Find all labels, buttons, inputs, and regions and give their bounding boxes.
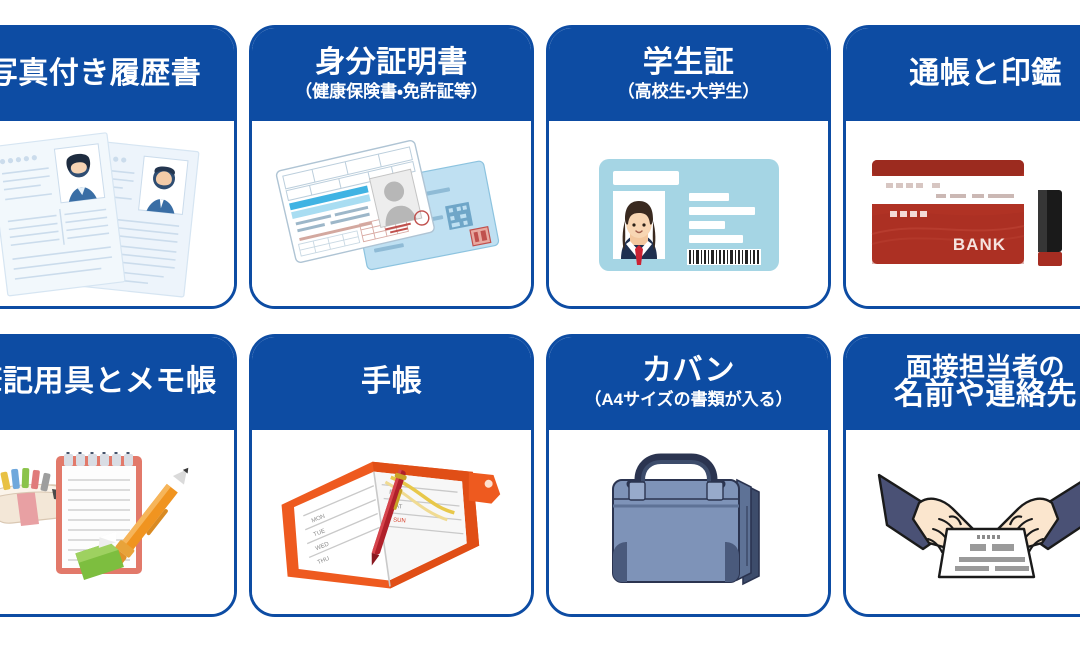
card-header-planner: 手帳 bbox=[251, 336, 532, 430]
briefcase-icon bbox=[591, 444, 786, 599]
svg-text:BANK: BANK bbox=[953, 235, 1006, 254]
card-body-id-card bbox=[252, 121, 531, 306]
card-header-bag: カバン （A4サイズの書類が入る） bbox=[548, 336, 829, 430]
card-planner: 手帳 MON TUE WE bbox=[249, 334, 534, 618]
card-header-student-id: 学生証 （高校生・大学生） bbox=[548, 27, 829, 121]
card-header-stationery: 筆記用具とメモ帳 bbox=[0, 336, 235, 430]
card-body-stationery bbox=[0, 430, 234, 615]
card-body-planner: MON TUE WED THU FRI SAT SUN bbox=[252, 430, 531, 615]
card-header-contact: 面接担当者の 名前や連絡先 bbox=[845, 336, 1080, 430]
card-title-id-card: 身分証明書 bbox=[315, 47, 468, 79]
card-header-bankbook: 通帳と印鑑 bbox=[845, 27, 1080, 121]
card-body-bankbook: BANK bbox=[846, 121, 1080, 306]
card-subtitle-bag: （A4サイズの書類が入る） bbox=[584, 390, 792, 410]
card-subtitle-id-card: （健康保険書・免許証等） bbox=[295, 82, 488, 102]
card-title-stationery: 筆記用具とメモ帳 bbox=[0, 366, 217, 398]
student-id-card-icon bbox=[589, 141, 789, 286]
id-cards-icon bbox=[272, 131, 512, 296]
card-header-id-card: 身分証明書 （健康保険書・免許証等） bbox=[251, 27, 532, 121]
card-id-card: 身分証明書 （健康保険書・免許証等） bbox=[249, 25, 534, 309]
card-student-id: 学生証 （高校生・大学生） bbox=[546, 25, 831, 309]
resume-documents-icon bbox=[0, 123, 210, 303]
card-stationery: 筆記用具とメモ帳 bbox=[0, 334, 237, 618]
card-body-student-id bbox=[549, 121, 828, 306]
card-bag: カバン （A4サイズの書類が入る） bbox=[546, 334, 831, 618]
checklist-board: 写真付き履歴書 bbox=[0, 0, 1080, 659]
card-title-planner: 手帳 bbox=[361, 366, 422, 398]
card-subtitle-student-id: （高校生・大学生） bbox=[618, 82, 760, 102]
card-body-bag bbox=[549, 430, 828, 615]
pencil-case-and-notepad-icon bbox=[0, 434, 220, 609]
card-resume: 写真付き履歴書 bbox=[0, 25, 237, 309]
card-title-student-id: 学生証 bbox=[643, 47, 735, 79]
card-title-bankbook: 通帳と印鑑 bbox=[909, 58, 1062, 90]
card-header-resume: 写真付き履歴書 bbox=[0, 27, 235, 121]
planner-notebook-icon: MON TUE WED THU FRI SAT SUN bbox=[269, 442, 514, 602]
card-title-bag: カバン bbox=[642, 355, 735, 387]
card-title-contact-line2: 名前や連絡先 bbox=[894, 379, 1077, 411]
card-body-resume bbox=[0, 121, 234, 306]
card-bankbook: 通帳と印鑑 bbox=[843, 25, 1080, 309]
card-body-contact bbox=[846, 430, 1080, 615]
bankbook-and-seal-icon: BANK bbox=[864, 138, 1079, 288]
card-contact: 面接担当者の 名前や連絡先 bbox=[843, 334, 1080, 618]
card-title-resume: 写真付き履歴書 bbox=[0, 58, 201, 90]
card-title-contact-line1: 面接担当者の bbox=[906, 353, 1065, 381]
svg-text:SUN: SUN bbox=[393, 517, 406, 524]
business-card-exchange-icon bbox=[873, 447, 1080, 597]
